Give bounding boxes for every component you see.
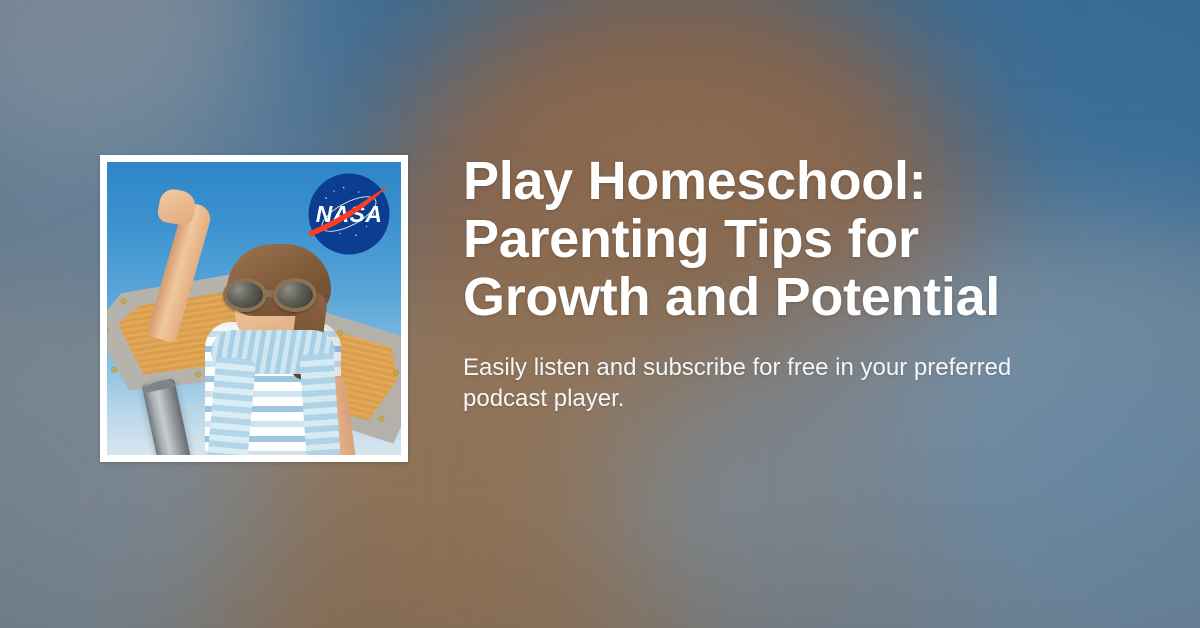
podcast-subtitle: Easily listen and subscribe for free in … [463, 352, 1033, 414]
goggle-lens-left [223, 278, 267, 312]
podcast-cover-art: NASA [107, 162, 401, 455]
podcast-share-card: NASA Play Homeschool: Parenting Tips for… [0, 0, 1200, 628]
podcast-cover-frame: NASA [100, 155, 408, 462]
goggle-lens-right [273, 278, 317, 312]
aviator-goggles [223, 278, 333, 312]
text-column: Play Homeschool: Parenting Tips for Grow… [463, 152, 1033, 414]
podcast-title: Play Homeschool: Parenting Tips for Grow… [463, 152, 1033, 326]
scarf-tail-right [299, 353, 340, 455]
card-content: NASA Play Homeschool: Parenting Tips for… [0, 0, 1200, 628]
nasa-logo-icon: NASA [305, 170, 393, 258]
